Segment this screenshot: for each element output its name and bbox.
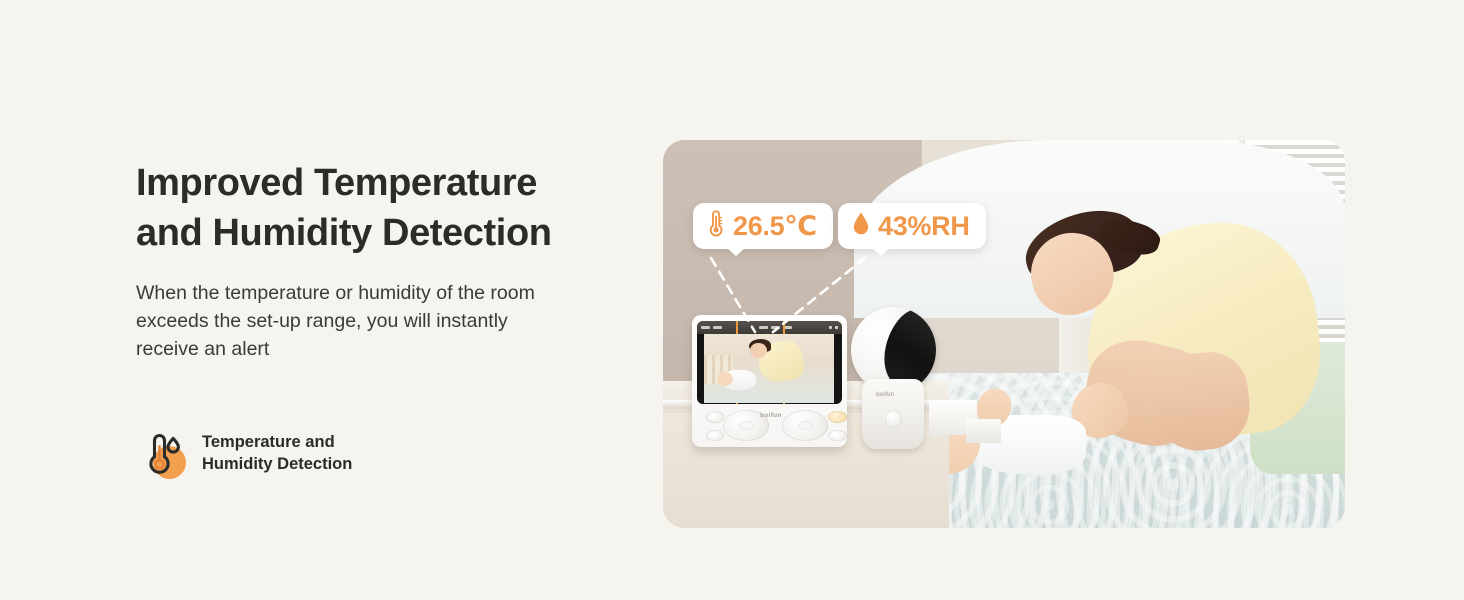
baby-monitor-device: boifun xyxy=(692,315,847,447)
temperature-badge: 26.5℃ xyxy=(693,203,833,249)
page-subtitle: When the temperature or humidity of the … xyxy=(136,280,566,363)
feature-badge-label: Temperature and Humidity Detection xyxy=(202,432,392,476)
feature-badge: Temperature and Humidity Detection xyxy=(136,428,392,480)
water-drop-icon xyxy=(851,210,871,242)
time-readout-icon xyxy=(783,326,792,329)
monitor-status-bar xyxy=(697,321,842,333)
menu-button[interactable] xyxy=(828,430,847,442)
monitor-live-feed xyxy=(704,334,834,402)
temperature-value: 26.5℃ xyxy=(733,213,817,240)
monitor-screen xyxy=(697,321,842,404)
small-box xyxy=(966,419,1000,442)
monitor-control-panel: boifun xyxy=(692,404,847,446)
menu-icon xyxy=(835,326,838,329)
camera-brand-logo: boifun xyxy=(876,392,894,398)
dpad-right[interactable] xyxy=(782,410,829,440)
power-button[interactable] xyxy=(828,411,847,423)
volume-down-button[interactable] xyxy=(706,430,725,442)
copy-block: Improved Temperature and Humidity Detect… xyxy=(136,158,606,363)
humidity-readout-icon xyxy=(771,326,780,329)
baby-camera-device: boifun xyxy=(851,307,936,447)
feed-mother-head xyxy=(750,343,767,359)
camera-button[interactable] xyxy=(885,410,902,428)
feature-banner: Improved Temperature and Humidity Detect… xyxy=(0,0,1464,600)
humidity-badge: 43%RH xyxy=(838,203,986,249)
camera-base: boifun xyxy=(862,379,923,449)
page-title: Improved Temperature and Humidity Detect… xyxy=(136,158,606,258)
thermometer-icon xyxy=(706,210,726,242)
product-photo: boifun boifun xyxy=(663,140,1345,528)
room-scene: boifun boifun xyxy=(663,140,1345,528)
temperature-readout-icon xyxy=(759,326,768,329)
monitor-brand-logo: boifun xyxy=(760,412,782,419)
thermometer-droplet-icon xyxy=(136,428,188,480)
battery-icon xyxy=(713,326,722,329)
feed-baby-head xyxy=(717,372,733,386)
signal-icon xyxy=(701,326,710,329)
humidity-value: 43%RH xyxy=(878,213,970,240)
volume-icon xyxy=(829,326,832,329)
mic-button[interactable] xyxy=(706,411,725,423)
